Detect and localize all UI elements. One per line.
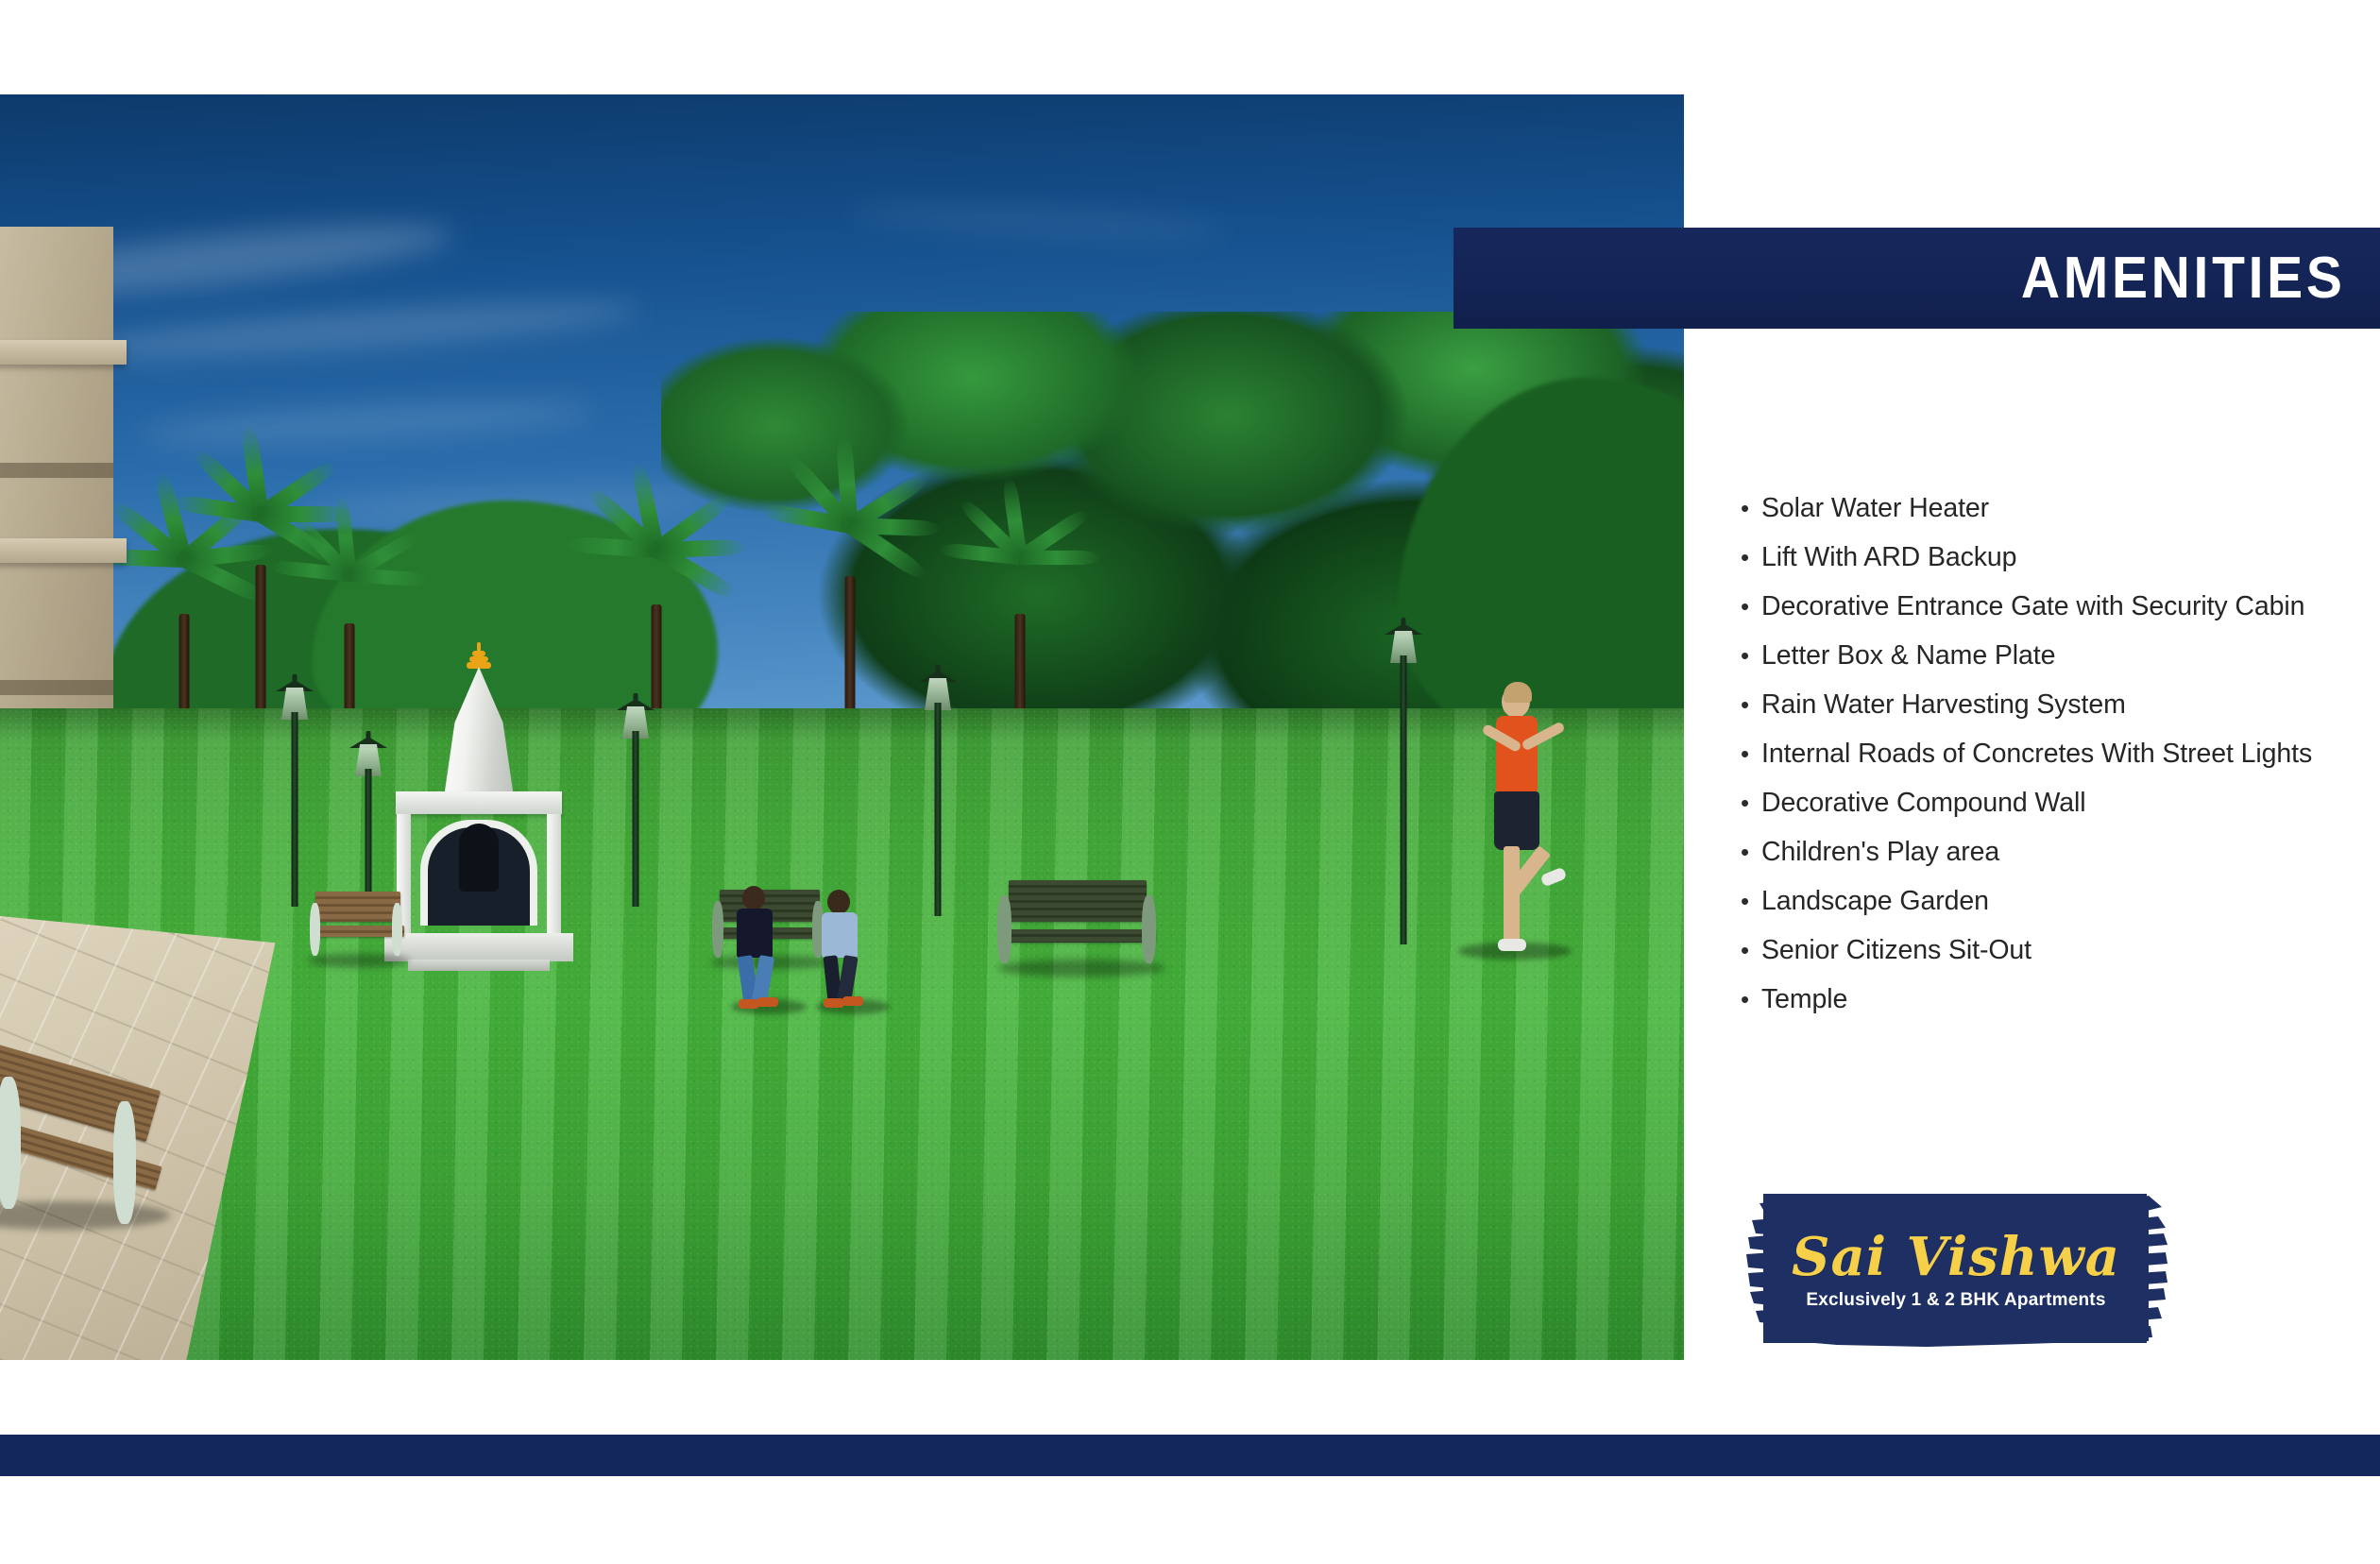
amenity-label: Rain Water Harvesting System xyxy=(1761,689,2126,720)
bullet-icon: • xyxy=(1741,640,1761,671)
amenity-label: Landscape Garden xyxy=(1761,886,1989,916)
list-item: • Rain Water Harvesting System xyxy=(1741,689,2345,720)
street-lamp xyxy=(349,737,387,907)
park-bench xyxy=(992,876,1162,980)
brand-logo: Sai Vishwa Exclusively 1 & 2 BHK Apartme… xyxy=(1742,1179,2169,1360)
child-running-right xyxy=(814,890,869,1011)
bullet-icon: • xyxy=(1741,739,1761,769)
list-item: • Decorative Compound Wall xyxy=(1741,788,2345,818)
bullet-icon: • xyxy=(1741,788,1761,818)
bullet-icon: • xyxy=(1741,837,1761,867)
bullet-icon: • xyxy=(1741,493,1761,523)
list-item: • Temple xyxy=(1741,984,2345,1014)
amenity-label: Letter Box & Name Plate xyxy=(1761,640,2055,671)
list-item: • Solar Water Heater xyxy=(1741,493,2345,523)
list-item: • Decorative Entrance Gate with Security… xyxy=(1741,591,2345,621)
bullet-icon: • xyxy=(1741,689,1761,720)
amenity-label: Lift With ARD Backup xyxy=(1761,542,2016,572)
bullet-icon: • xyxy=(1741,984,1761,1014)
bullet-icon: • xyxy=(1741,591,1761,621)
logo-tagline: Exclusively 1 & 2 BHK Apartments xyxy=(1806,1291,2105,1309)
child-running-left xyxy=(727,886,784,1011)
page-title: AMENITIES xyxy=(2021,249,2346,308)
amenity-label: Senior Citizens Sit-Out xyxy=(1761,935,2031,965)
footer-bar xyxy=(0,1435,2380,1476)
street-lamp xyxy=(616,699,655,907)
amenity-label: Decorative Compound Wall xyxy=(1761,788,2085,818)
list-item: • Letter Box & Name Plate xyxy=(1741,640,2345,671)
bullet-icon: • xyxy=(1741,935,1761,965)
temple-shrine xyxy=(389,640,569,961)
park-bench-foreground xyxy=(0,1058,161,1237)
bullet-icon: • xyxy=(1741,886,1761,916)
list-item: • Senior Citizens Sit-Out xyxy=(1741,935,2345,965)
garden-rendering-photo xyxy=(0,94,1684,1360)
amenity-label: Children's Play area xyxy=(1761,837,1999,867)
woman-stretching xyxy=(1462,686,1566,960)
amenities-banner: AMENITIES xyxy=(1453,228,2380,329)
bullet-icon: • xyxy=(1741,542,1761,572)
brochure-page: AMENITIES • Solar Water Heater • Lift Wi… xyxy=(0,0,2380,1564)
list-item: • Lift With ARD Backup xyxy=(1741,542,2345,572)
amenity-label: Solar Water Heater xyxy=(1761,493,1989,523)
logo-name: Sai Vishwa xyxy=(1792,1231,2120,1283)
street-lamp xyxy=(274,680,315,907)
list-item: • Children's Play area xyxy=(1741,837,2345,867)
street-lamp xyxy=(916,671,960,916)
amenities-list: • Solar Water Heater • Lift With ARD Bac… xyxy=(1741,493,2345,1033)
amenity-label: Temple xyxy=(1761,984,1847,1014)
street-lamp xyxy=(1379,623,1428,944)
amenity-label: Internal Roads of Concretes With Street … xyxy=(1761,739,2312,769)
amenity-label: Decorative Entrance Gate with Security C… xyxy=(1761,591,2304,621)
list-item: • Landscape Garden xyxy=(1741,886,2345,916)
list-item: • Internal Roads of Concretes With Stree… xyxy=(1741,739,2345,769)
park-bench xyxy=(304,886,408,971)
